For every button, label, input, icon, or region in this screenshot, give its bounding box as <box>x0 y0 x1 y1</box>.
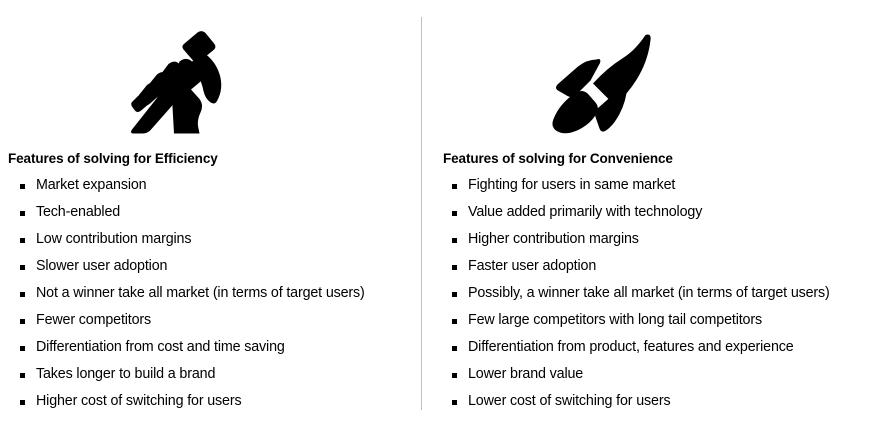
list-item: Differentiation from product, features a… <box>452 334 830 361</box>
bullet-square-icon <box>452 226 457 253</box>
list-item: Few large competitors with long tail com… <box>452 307 830 334</box>
list-item: Lower brand value <box>452 361 830 388</box>
bullet-square-icon <box>452 280 457 307</box>
list-item-label: Differentiation from cost and time savin… <box>36 339 285 355</box>
rocket-icon <box>548 28 656 138</box>
bullet-square-icon <box>20 388 25 415</box>
hand-gripping-hammer-icon <box>128 28 230 138</box>
bullet-square-icon <box>452 172 457 199</box>
bullet-square-icon <box>20 280 25 307</box>
list-item-label: Possibly, a winner take all market (in t… <box>468 285 830 301</box>
list-item: Possibly, a winner take all market (in t… <box>452 280 830 307</box>
bullet-square-icon <box>20 199 25 226</box>
list-item-label: Lower cost of switching for users <box>468 393 670 409</box>
list-item-label: Higher cost of switching for users <box>36 393 241 409</box>
bullet-square-icon <box>20 334 25 361</box>
bullet-square-icon <box>20 172 25 199</box>
list-item-label: Few large competitors with long tail com… <box>468 312 762 328</box>
column-efficiency: Features of solving for Efficiency Marke… <box>0 0 421 431</box>
list-item: Low contribution margins <box>20 226 365 253</box>
bullet-square-icon <box>452 388 457 415</box>
list-item: Higher cost of switching for users <box>20 388 365 415</box>
list-item-label: Market expansion <box>36 177 146 193</box>
bullet-square-icon <box>452 361 457 388</box>
list-item: Fighting for users in same market <box>452 172 830 199</box>
list-item-label: Higher contribution margins <box>468 231 639 247</box>
page-title: Features of solving for Convenience <box>443 150 673 168</box>
list-item: Tech-enabled <box>20 199 365 226</box>
bullet-square-icon <box>20 226 25 253</box>
feature-list-efficiency: Market expansion Tech-enabled Low contri… <box>20 172 365 415</box>
list-item: Value added primarily with technology <box>452 199 830 226</box>
list-item: Higher contribution margins <box>452 226 830 253</box>
list-item-label: Fewer competitors <box>36 312 151 328</box>
list-item: Not a winner take all market (in terms o… <box>20 280 365 307</box>
page-title: Features of solving for Efficiency <box>8 150 218 168</box>
bullet-square-icon <box>20 307 25 334</box>
list-item: Lower cost of switching for users <box>452 388 830 415</box>
list-item-label: Faster user adoption <box>468 258 596 274</box>
list-item: Slower user adoption <box>20 253 365 280</box>
bullet-square-icon <box>20 253 25 280</box>
list-item: Faster user adoption <box>452 253 830 280</box>
column-convenience: Features of solving for Convenience Figh… <box>422 0 869 431</box>
list-item-label: Takes longer to build a brand <box>36 366 215 382</box>
list-item: Takes longer to build a brand <box>20 361 365 388</box>
list-item-label: Differentiation from product, features a… <box>468 339 794 355</box>
feature-list-convenience: Fighting for users in same market Value … <box>452 172 830 415</box>
list-item-label: Fighting for users in same market <box>468 177 675 193</box>
bullet-square-icon <box>20 361 25 388</box>
bullet-square-icon <box>452 199 457 226</box>
bullet-square-icon <box>452 307 457 334</box>
list-item-label: Not a winner take all market (in terms o… <box>36 285 365 301</box>
list-item: Market expansion <box>20 172 365 199</box>
list-item-label: Low contribution margins <box>36 231 191 247</box>
comparison-slide: Features of solving for Efficiency Marke… <box>0 0 869 431</box>
bullet-square-icon <box>452 334 457 361</box>
list-item-label: Slower user adoption <box>36 258 167 274</box>
list-item-label: Tech-enabled <box>36 204 120 220</box>
list-item: Differentiation from cost and time savin… <box>20 334 365 361</box>
list-item: Fewer competitors <box>20 307 365 334</box>
bullet-square-icon <box>452 253 457 280</box>
list-item-label: Value added primarily with technology <box>468 204 702 220</box>
list-item-label: Lower brand value <box>468 366 583 382</box>
